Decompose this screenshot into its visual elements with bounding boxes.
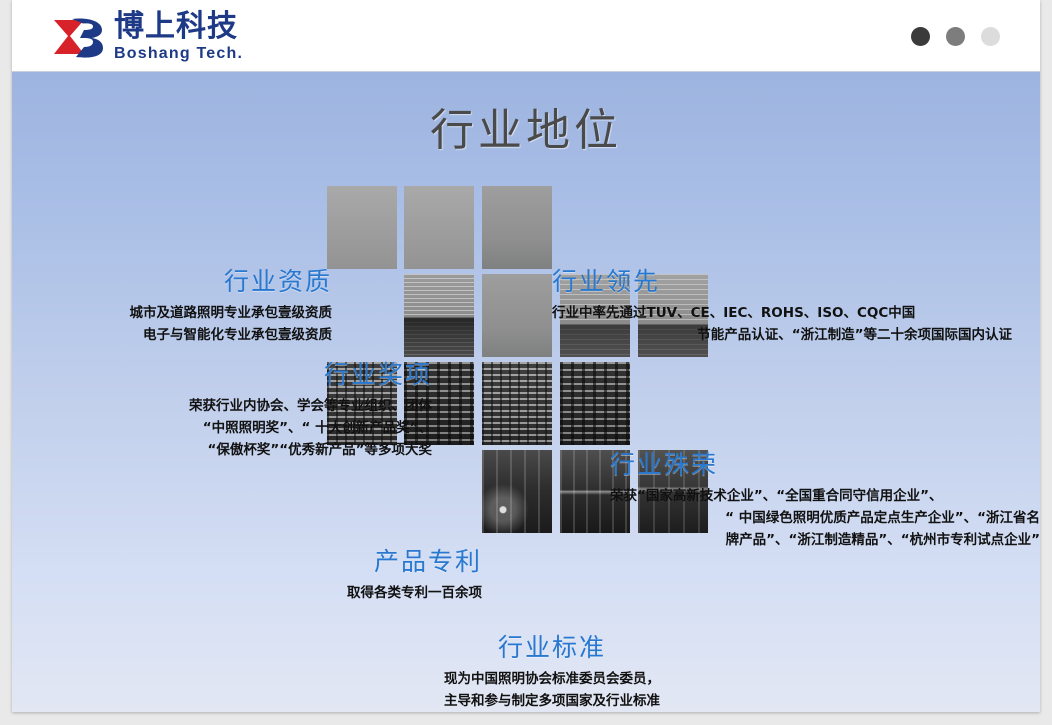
block-heading-honors: 行业殊荣 <box>610 445 1040 481</box>
block-line: 城市及道路照明专业承包壹级资质 <box>42 303 332 325</box>
header-dots <box>911 27 1000 46</box>
photo-tile <box>482 274 552 357</box>
block-line: 取得各类专利一百余项 <box>262 583 482 605</box>
block-heading-standards: 行业标准 <box>382 628 722 664</box>
block-honors: 行业殊荣 荣获“国家高新技术企业”、“全国重合同守信用企业”、 “ 中国绿色照明… <box>610 445 1040 552</box>
block-line: 行业中率先通过TUV、CE、IEC、ROHS、ISO、CQC中国 <box>552 303 1012 325</box>
block-line: 主导和参与制定多项国家及行业标准 <box>382 691 722 712</box>
photo-tile <box>327 186 397 269</box>
brand-text: 博上科技 Boshang Tech. <box>114 12 243 62</box>
photo-tile <box>482 186 552 269</box>
photo-tile <box>482 450 552 533</box>
block-patents: 产品专利 取得各类专利一百余项 <box>262 542 482 605</box>
dot-dark-icon[interactable] <box>911 27 930 46</box>
block-standards: 行业标准 现为中国照明协会标准委员会委员， 主导和参与制定多项国家及行业标准 <box>382 628 722 712</box>
boshang-b-mark-icon <box>50 14 106 60</box>
dot-light-icon[interactable] <box>981 27 1000 46</box>
block-line: “保傲杯奖”“优秀新产品”等多项大奖 <box>92 440 432 462</box>
block-line: 电子与智能化专业承包壹级资质 <box>42 325 332 347</box>
photo-tile <box>404 186 474 269</box>
photo-tile <box>404 274 474 357</box>
brand-name-en: Boshang Tech. <box>114 46 243 62</box>
block-heading-awards: 行业奖项 <box>92 355 432 391</box>
slide-canvas: 博上科技 Boshang Tech. 行业地位 <box>0 0 1052 725</box>
block-line: 荣获“国家高新技术企业”、“全国重合同守信用企业”、 <box>610 486 1040 508</box>
block-heading-patents: 产品专利 <box>262 542 482 578</box>
block-line: “ 中国绿色照明优质产品定点生产企业”、“浙江省名 <box>610 508 1040 530</box>
block-leading: 行业领先 行业中率先通过TUV、CE、IEC、ROHS、ISO、CQC中国 节能… <box>552 262 1012 347</box>
block-heading-qualification: 行业资质 <box>42 262 332 298</box>
slide-page: 博上科技 Boshang Tech. 行业地位 <box>12 0 1040 712</box>
slide-body: 行业地位 <box>12 72 1040 712</box>
block-line: 荣获行业内协会、学会等专业组织、团体 <box>92 396 432 418</box>
brand-name-cn: 博上科技 <box>114 12 243 42</box>
block-line: “中照照明奖”、“ 十大创新产品奖”、 <box>92 418 432 440</box>
dot-mid-icon[interactable] <box>946 27 965 46</box>
block-line: 节能产品认证、“浙江制造”等二十余项国际国内认证 <box>552 325 1012 347</box>
block-line: 现为中国照明协会标准委员会委员， <box>382 669 722 691</box>
block-qualification: 行业资质 城市及道路照明专业承包壹级资质 电子与智能化专业承包壹级资质 <box>42 262 332 347</box>
block-heading-leading: 行业领先 <box>552 262 1012 298</box>
photo-tile <box>482 362 552 445</box>
page-header: 博上科技 Boshang Tech. <box>12 0 1040 72</box>
block-line: 牌产品”、“浙江制造精品”、“杭州市专利试点企业” <box>610 530 1040 552</box>
brand-logo[interactable]: 博上科技 Boshang Tech. <box>50 12 243 62</box>
block-awards: 行业奖项 荣获行业内协会、学会等专业组织、团体 “中照照明奖”、“ 十大创新产品… <box>92 355 432 462</box>
photo-tile <box>560 362 630 445</box>
